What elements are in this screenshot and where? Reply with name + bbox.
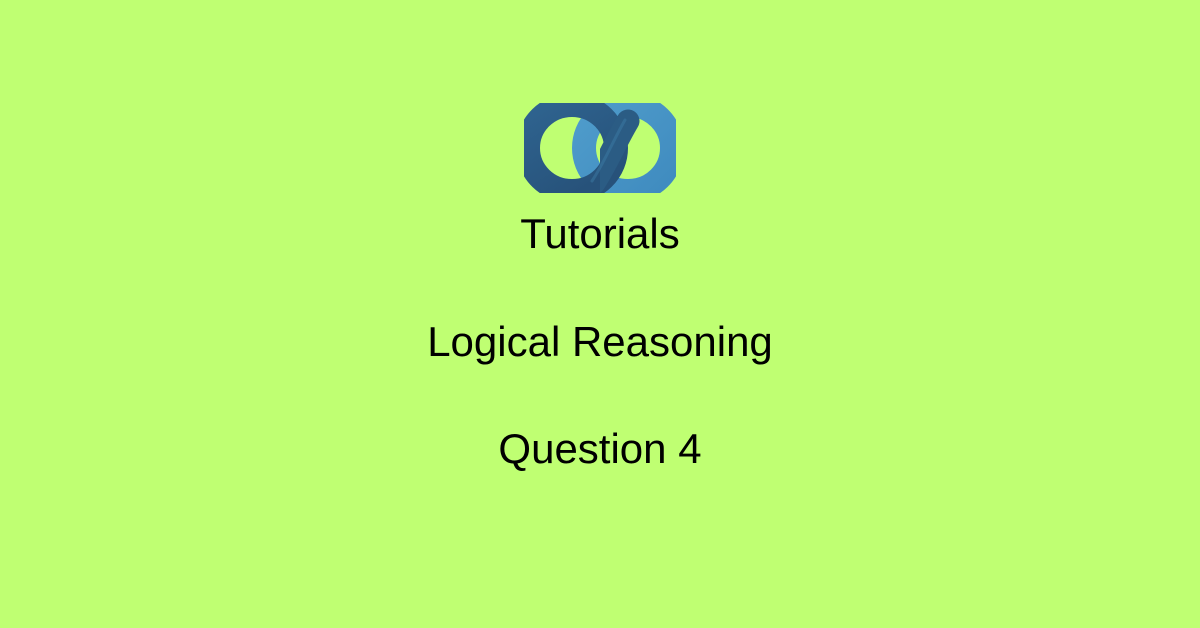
subject-title: Logical Reasoning [0, 320, 1200, 364]
question-title: Question 4 [0, 427, 1200, 471]
brand-title: Tutorials [0, 212, 1200, 256]
infinity-loop-icon [524, 103, 676, 193]
slide-card: Tutorials Logical Reasoning Question 4 [0, 0, 1200, 628]
slide-content: Tutorials Logical Reasoning Question 4 [0, 0, 1200, 628]
